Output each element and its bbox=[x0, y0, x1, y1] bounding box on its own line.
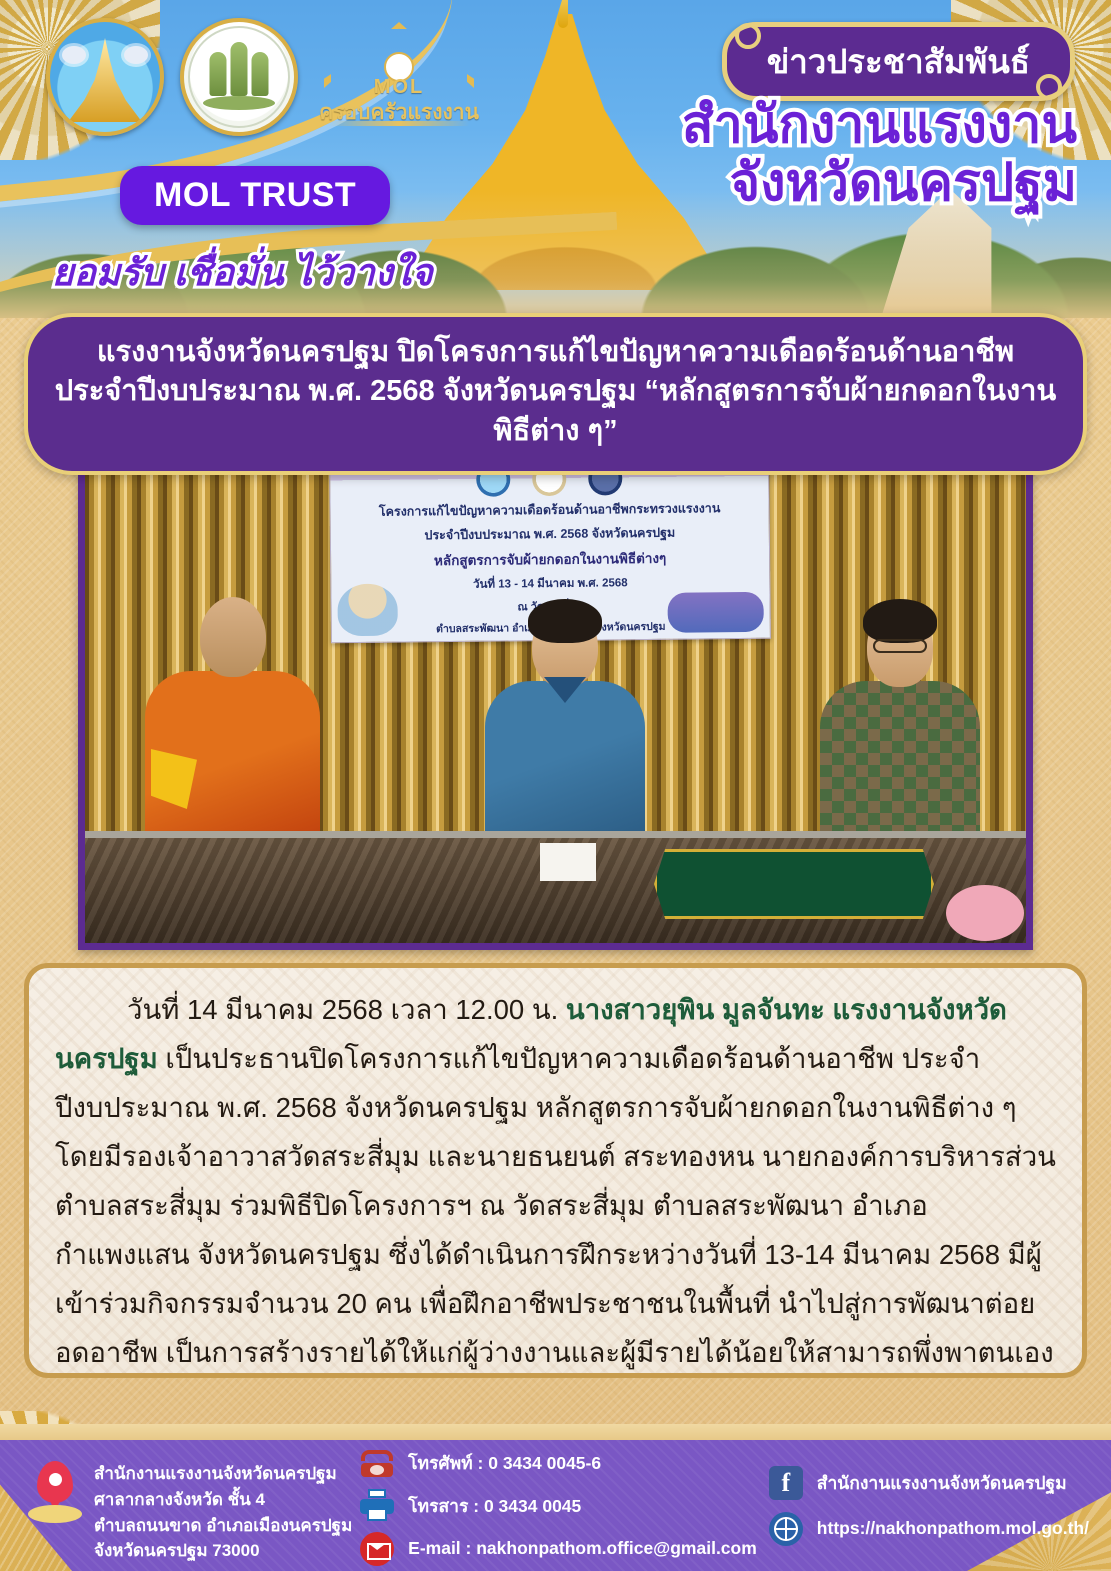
website-row[interactable]: https://nakhonpathom.mol.go.th/ bbox=[769, 1512, 1089, 1546]
facebook-icon[interactable]: f bbox=[769, 1466, 803, 1500]
ministry-of-labour-seal-icon bbox=[180, 18, 298, 136]
footer-social-block: f สำนักงานแรงงานจังหวัดนครปฐม https://na… bbox=[757, 1466, 1089, 1546]
mol-trust-badge: MOL TRUST bbox=[120, 166, 390, 225]
footer-columns: สำนักงานแรงงานจังหวัดนครปฐม ศาลากลางจังห… bbox=[0, 1440, 1111, 1571]
seal-figure bbox=[210, 52, 227, 96]
seal-base bbox=[203, 96, 275, 110]
phone-handset bbox=[361, 1450, 393, 1461]
telephone-icon bbox=[360, 1446, 394, 1480]
website-text[interactable]: https://nakhonpathom.mol.go.th/ bbox=[817, 1518, 1089, 1539]
mol-underline bbox=[328, 121, 470, 126]
seal-figure bbox=[231, 42, 248, 96]
poster-root: MOL ครอบครัวแรงงาน MOL TRUST ยอมรับ เชื่… bbox=[0, 0, 1111, 1571]
office-name-line2: จังหวัดนครปฐม bbox=[682, 154, 1077, 212]
banner-cloth-right bbox=[667, 592, 763, 633]
office-name-line1: สำนักงานแรงงาน bbox=[682, 96, 1077, 154]
fax-row: โทรสาร : 0 3434 0045 bbox=[360, 1489, 757, 1523]
green-nameplate bbox=[654, 849, 934, 919]
man-shirt bbox=[485, 681, 645, 831]
office-name: สำนักงานแรงงาน จังหวัดนครปฐม bbox=[682, 96, 1077, 212]
fax-icon bbox=[360, 1489, 394, 1523]
glasses-icon bbox=[873, 639, 927, 653]
phone-dial bbox=[370, 1465, 384, 1475]
mol-family-logo-icon: MOL ครอบครัวแรงงาน bbox=[314, 18, 484, 130]
footer-address-block: สำนักงานแรงงานจังหวัดนครปฐม ศาลากลางจังห… bbox=[28, 1447, 360, 1564]
monk-robe-stripe bbox=[151, 749, 197, 809]
title-line-1: แรงงานจังหวัดนครปฐม ปิดโครงการแก้ไขปัญหา… bbox=[54, 333, 1057, 372]
banner-doll-left bbox=[337, 584, 398, 637]
banner-line-1: โครงการแก้ไขปัญหาความเดือดร้อนด้านอาชีพก… bbox=[331, 498, 769, 523]
address-line-1: สำนักงานแรงงานจังหวัดนครปฐม bbox=[94, 1461, 352, 1487]
monk-robe bbox=[145, 671, 320, 831]
phone-row: โทรศัพท์ : 0 3434 0045-6 bbox=[360, 1446, 757, 1480]
woman-hair bbox=[863, 599, 937, 643]
man-hair bbox=[528, 599, 602, 643]
event-photo: โครงการแก้ไขปัญหาความเดือดร้อนด้านอาชีพก… bbox=[78, 430, 1033, 950]
title-banner: แรงงานจังหวัดนครปฐม ปิดโครงการแก้ไขปัญหา… bbox=[24, 313, 1087, 475]
address-lines: สำนักงานแรงงานจังหวัดนครปฐม ศาลากลางจังห… bbox=[94, 1461, 352, 1564]
person-woman-green-dress bbox=[820, 607, 980, 831]
seal-cloud-right bbox=[124, 46, 148, 64]
facebook-text[interactable]: สำนักงานแรงงานจังหวัดนครปฐม bbox=[817, 1469, 1067, 1497]
article-prefix: วันที่ 14 มีนาคม 2568 เวลา 12.00 น. bbox=[127, 994, 566, 1025]
banner-line-3: หลักสูตรการจับผ้ายกดอกในงานพิธีต่างๆ bbox=[331, 546, 769, 573]
title-line-2: ประจำปีงบประมาณ พ.ศ. 2568 จังหวัดนครปฐม … bbox=[54, 372, 1057, 451]
banner-line-2: ประจำปีงบประมาณ พ.ศ. 2568 จังหวัดนครปฐม bbox=[331, 522, 769, 547]
email-icon bbox=[360, 1532, 394, 1566]
globe-icon[interactable] bbox=[769, 1512, 803, 1546]
monk-head bbox=[200, 597, 266, 677]
paper-on-table bbox=[540, 843, 596, 881]
logo-row: MOL ครอบครัวแรงงาน bbox=[46, 18, 484, 136]
location-pin-icon bbox=[28, 1461, 82, 1525]
person-man-blue-shirt bbox=[485, 607, 645, 831]
footer-bar: สำนักงานแรงงานจังหวัดนครปฐม ศาลากลางจังห… bbox=[0, 1440, 1111, 1571]
woman-head bbox=[867, 607, 933, 687]
facebook-row[interactable]: f สำนักงานแรงงานจังหวัดนครปฐม bbox=[769, 1466, 1089, 1500]
pink-object bbox=[946, 885, 1024, 941]
fax-output bbox=[367, 1508, 387, 1521]
address-line-4: จังหวัดนครปฐม 73000 bbox=[94, 1538, 352, 1564]
globe-equator bbox=[774, 1528, 798, 1530]
fax-text: โทรสาร : 0 3434 0045 bbox=[408, 1492, 581, 1520]
seal-cloud-left bbox=[62, 46, 86, 64]
email-text: E-mail : nakhonpathom.office@gmail.com bbox=[408, 1538, 757, 1559]
article-panel: วันที่ 14 มีนาคม 2568 เวลา 12.00 น. นางส… bbox=[24, 963, 1087, 1378]
footer-contact-block: โทรศัพท์ : 0 3434 0045-6 โทรสาร : 0 3434… bbox=[360, 1446, 757, 1566]
person-monk bbox=[145, 597, 320, 831]
press-release-ribbon: ข่าวประชาสัมพันธ์ bbox=[722, 22, 1075, 101]
trust-slogan: ยอมรับ เชื่อมั่น ไว้วางใจ bbox=[52, 243, 433, 302]
article-rest: เป็นประธานปิดโครงการแก้ไขปัญหาความเดือดร… bbox=[55, 1043, 1056, 1378]
fax-top bbox=[368, 1489, 386, 1498]
email-row: E-mail : nakhonpathom.office@gmail.com bbox=[360, 1532, 757, 1566]
seal-figure bbox=[252, 52, 269, 96]
seal-figures bbox=[210, 42, 269, 96]
address-line-2: ศาลากลางจังหวัด ชั้น 4 bbox=[94, 1487, 352, 1513]
pin-shadow bbox=[28, 1505, 82, 1523]
man-collar bbox=[544, 677, 586, 703]
man-head bbox=[532, 607, 598, 687]
address-line-3: ตำบลถนนขาด อำเภอเมืองนครปฐม bbox=[94, 1513, 352, 1539]
phone-text: โทรศัพท์ : 0 3434 0045-6 bbox=[408, 1449, 601, 1477]
article-paragraph: วันที่ 14 มีนาคม 2568 เวลา 12.00 น. นางส… bbox=[55, 986, 1056, 1378]
nakhon-pathom-provincial-seal-icon bbox=[46, 18, 164, 136]
woman-dress bbox=[820, 681, 980, 831]
footer-gold-strip bbox=[0, 1424, 1111, 1440]
